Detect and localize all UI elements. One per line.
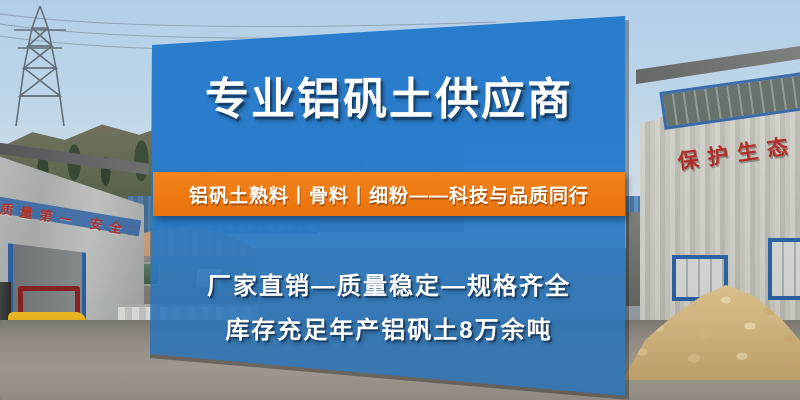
banner-content: 专业铝矾土供应商 铝矾土熟料丨骨料丨细粉——科技与品质同行 厂家直销—质量稳定—…	[152, 0, 626, 400]
tagline-ribbon: 铝矾土熟料丨骨料丨细粉——科技与品质同行	[153, 172, 625, 216]
subline-2: 库存充足年产铝矾土8万余吨	[152, 310, 626, 345]
page-title: 专业铝矾土供应商	[152, 78, 626, 122]
subline-1: 厂家直销—质量稳定—规格齐全	[152, 266, 626, 301]
tagline-text: 铝矾土熟料丨骨料丨细粉——科技与品质同行	[189, 181, 589, 208]
bauxite-supplier-banner: 质量第一 安全为首 保护生态 专业铝矾土供应商 铝矾土熟料丨骨料丨细粉——科技与…	[0, 0, 800, 400]
right-building-window-2	[768, 238, 800, 300]
